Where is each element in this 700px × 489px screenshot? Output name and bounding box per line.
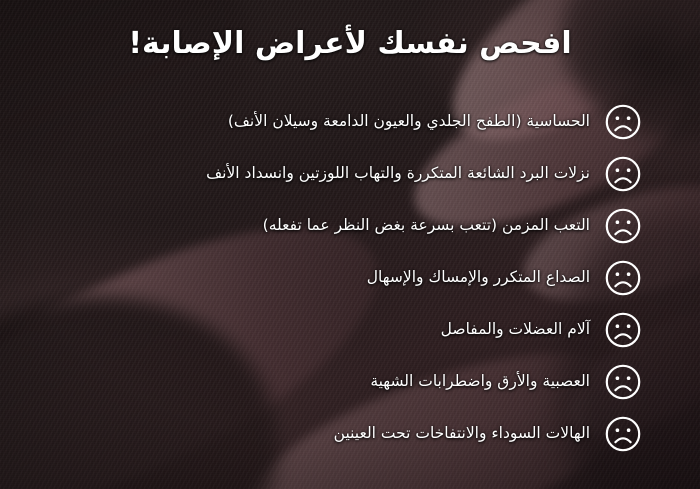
symptom-text: الهالات السوداء والانتفاخات تحت العينين: [334, 424, 590, 443]
list-item: آلام العضلات والمفاصل: [40, 311, 642, 349]
list-item: الصداع المتكرر والإمساك والإسهال: [40, 259, 642, 297]
symptom-text: العصبية والأرق واضطرابات الشهية: [370, 372, 590, 391]
symptom-poster: افحص نفسك لأعراض الإصابة! الحساسية (الطف…: [0, 0, 700, 489]
symptom-text: الحساسية (الطفح الجلدي والعيون الدامعة و…: [228, 112, 590, 131]
sad-face-icon: [604, 311, 642, 349]
list-item: الحساسية (الطفح الجلدي والعيون الدامعة و…: [40, 103, 642, 141]
sad-face-icon: [604, 363, 642, 401]
sad-face-icon: [604, 207, 642, 245]
list-item: التعب المزمن (تتعب بسرعة بغض النظر عما ت…: [40, 207, 642, 245]
sad-face-icon: [604, 155, 642, 193]
page-title: افحص نفسك لأعراض الإصابة!: [0, 26, 700, 62]
sad-face-icon: [604, 103, 642, 141]
sad-face-icon: [604, 415, 642, 453]
list-item: الهالات السوداء والانتفاخات تحت العينين: [40, 415, 642, 453]
symptom-list: الحساسية (الطفح الجلدي والعيون الدامعة و…: [40, 103, 642, 453]
symptom-text: التعب المزمن (تتعب بسرعة بغض النظر عما ت…: [263, 216, 590, 235]
sad-face-icon: [604, 259, 642, 297]
list-item: نزلات البرد الشائعة المتكررة والتهاب الل…: [40, 155, 642, 193]
list-item: العصبية والأرق واضطرابات الشهية: [40, 363, 642, 401]
symptom-text: آلام العضلات والمفاصل: [441, 320, 590, 339]
poster-content: افحص نفسك لأعراض الإصابة! الحساسية (الطف…: [0, 0, 700, 489]
symptom-text: الصداع المتكرر والإمساك والإسهال: [367, 268, 590, 287]
symptom-text: نزلات البرد الشائعة المتكررة والتهاب الل…: [206, 164, 590, 183]
